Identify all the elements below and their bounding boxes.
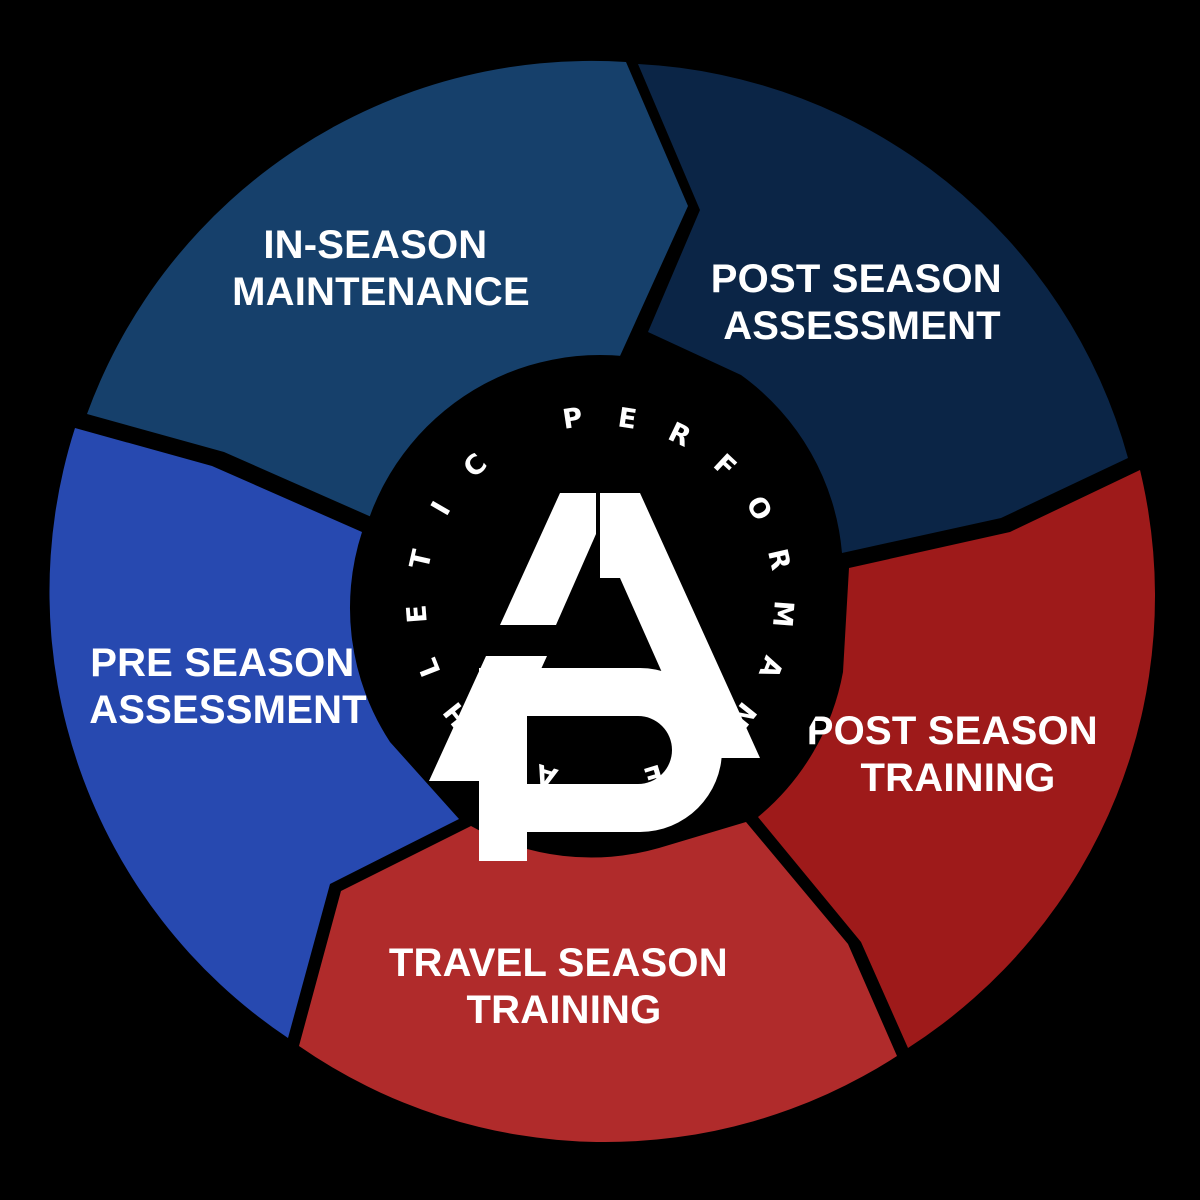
cycle-diagram: POST SEASON ASSESSMENT POST SEASON TRAIN…	[0, 0, 1200, 1200]
cycle-wheel: POST SEASON ASSESSMENT POST SEASON TRAIN…	[0, 0, 1200, 1200]
brand-arc-char: E	[401, 604, 433, 625]
brand-arc-char: M	[766, 599, 799, 628]
